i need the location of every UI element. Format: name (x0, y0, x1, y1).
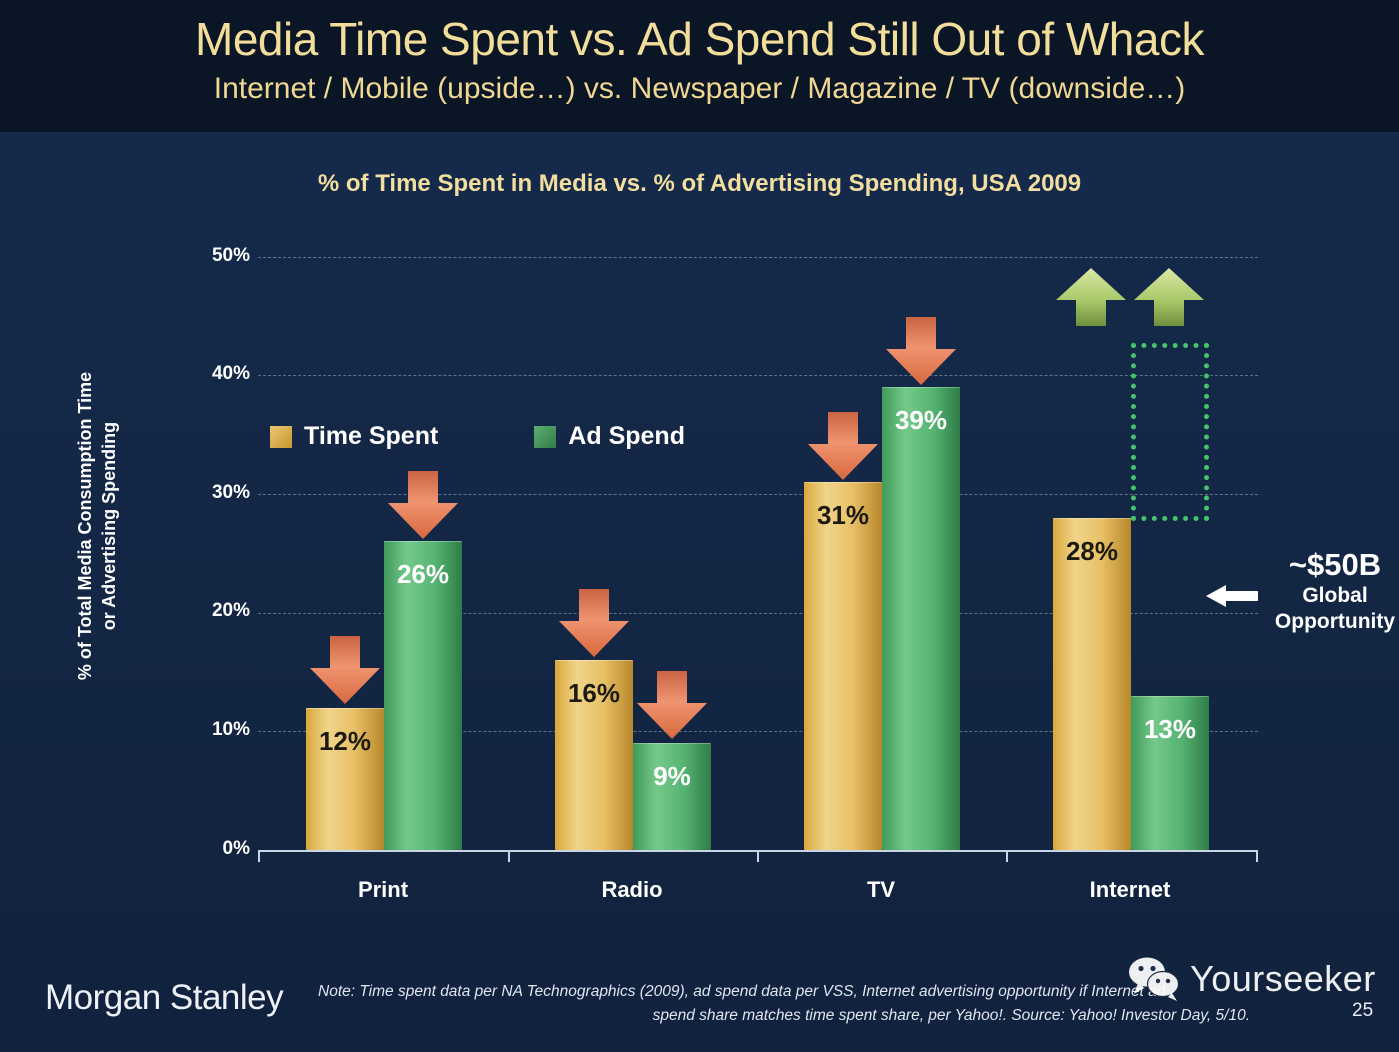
bar-label-tv-time-spent: 31% (804, 500, 882, 531)
down-arrow-icon-print-ad-spend (386, 469, 460, 541)
y-tick-label-20: 20% (180, 600, 250, 622)
watermark: Yourseeker (1128, 957, 1376, 1001)
x-axis-tick-print-radio (508, 850, 510, 862)
y-axis-title: % of Total Media Consumption Time or Adv… (73, 311, 121, 741)
y-tick-label-30: 30% (180, 482, 250, 504)
morgan-stanley-logo: Morgan Stanley (45, 978, 283, 1018)
bar-label-radio-ad-spend: 9% (633, 761, 711, 792)
opportunity-gap-box (1131, 343, 1209, 521)
page-title: Media Time Spent vs. Ad Spend Still Out … (0, 12, 1399, 66)
bar-label-internet-ad-spend: 13% (1131, 714, 1209, 745)
x-axis-tick-radio-tv (757, 850, 759, 862)
x-axis-tick-end (1256, 850, 1258, 862)
opportunity-amount: ~$50B (1240, 547, 1399, 583)
opportunity-line3: Opportunity (1240, 609, 1399, 635)
bar-label-radio-time-spent: 16% (555, 678, 633, 709)
opportunity-callout: ~$50B Global Opportunity (1240, 547, 1399, 635)
x-axis-label-print: Print (283, 877, 483, 903)
down-arrow-icon-tv-ad-spend (884, 315, 958, 387)
opportunity-line2: Global (1240, 583, 1399, 609)
y-tick-label-0: 0% (180, 838, 250, 860)
down-arrow-icon-radio-time-spent (557, 587, 631, 659)
x-axis-tick-tv-internet (1006, 850, 1008, 862)
x-axis-label-radio: Radio (532, 877, 732, 903)
page-subtitle: Internet / Mobile (upside…) vs. Newspape… (0, 72, 1399, 106)
bar-tv-time-spent[interactable]: 31% (804, 482, 882, 850)
down-arrow-icon-tv-time-spent (806, 410, 880, 482)
page-number: 25 (1352, 1000, 1373, 1022)
bar-internet-time-spent[interactable]: 28% (1053, 518, 1131, 850)
y-axis-title-line1: % of Total Media Consumption Time (75, 372, 95, 680)
source-footnote-line2: spend share matches time spent share, pe… (300, 1004, 1310, 1028)
up-arrow-icon-internet-ad-spend (1132, 266, 1206, 328)
y-tick-label-10: 10% (180, 719, 250, 741)
x-axis-tick-start (258, 850, 260, 862)
bar-radio-ad-spend[interactable]: 9% (633, 743, 711, 850)
bar-print-time-spent[interactable]: 12% (306, 708, 384, 850)
plot-area: 12% 26% 16% 9% 31% (258, 257, 1258, 850)
bar-radio-time-spent[interactable]: 16% (555, 660, 633, 850)
gridline-40 (258, 375, 1258, 376)
up-arrow-icon-internet-time-spent (1054, 266, 1128, 328)
bar-internet-ad-spend[interactable]: 13% (1131, 696, 1209, 850)
y-axis-title-line2: or Advertising Spending (99, 422, 119, 630)
bar-label-print-ad-spend: 26% (384, 559, 462, 590)
down-arrow-icon-print-time-spent (308, 634, 382, 706)
bar-label-internet-time-spent: 28% (1053, 536, 1131, 567)
slide-body: % of Time Spent in Media vs. % of Advert… (0, 132, 1399, 1052)
y-tick-label-50: 50% (180, 245, 250, 267)
chart-title: % of Time Spent in Media vs. % of Advert… (0, 170, 1399, 198)
y-tick-label-40: 40% (180, 363, 250, 385)
bar-print-ad-spend[interactable]: 26% (384, 541, 462, 850)
slide-header-band: Media Time Spent vs. Ad Spend Still Out … (0, 0, 1399, 132)
bar-tv-ad-spend[interactable]: 39% (882, 387, 960, 850)
watermark-text: Yourseeker (1190, 958, 1376, 1000)
x-axis-label-tv: TV (781, 877, 981, 903)
bar-label-print-time-spent: 12% (306, 726, 384, 757)
x-axis-label-internet: Internet (1030, 877, 1230, 903)
down-arrow-icon-radio-ad-spend (635, 669, 709, 741)
gridline-50 (258, 257, 1258, 258)
bar-label-tv-ad-spend: 39% (882, 405, 960, 436)
wechat-icon (1128, 957, 1182, 1001)
